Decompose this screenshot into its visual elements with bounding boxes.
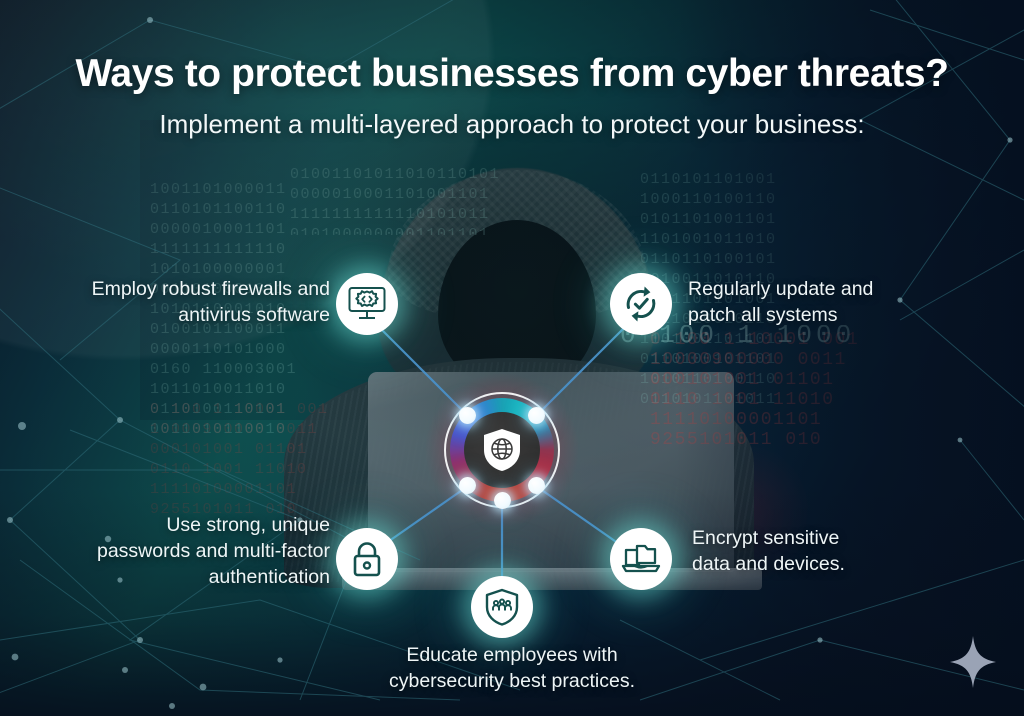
refresh-check-icon: [622, 285, 660, 323]
icon-circle-training[interactable]: [471, 576, 533, 638]
shield-people-icon: [485, 588, 519, 626]
icon-circle-encryption[interactable]: [610, 528, 672, 590]
hub-node-bottom-right: [528, 477, 545, 494]
label-training: Educate employees with cybersecurity bes…: [322, 642, 702, 694]
icon-circle-passwords[interactable]: [336, 528, 398, 590]
icon-circle-updates[interactable]: [610, 273, 672, 335]
hub-node-bottom-left: [459, 477, 476, 494]
label-passwords: Use strong, unique passwords and multi-f…: [40, 512, 330, 590]
label-firewalls: Employ robust firewalls and antivirus so…: [50, 276, 330, 328]
label-updates: Regularly update and patch all systems: [688, 276, 978, 328]
icon-circle-firewalls[interactable]: [336, 273, 398, 335]
padlock-icon: [350, 540, 384, 578]
shield-globe-icon: [482, 428, 522, 472]
sparkle-icon: [950, 636, 996, 688]
hub-node-bottom: [494, 492, 511, 509]
label-encryption: Encrypt sensitive data and devices.: [692, 525, 982, 577]
monitor-gear-code-icon: [347, 285, 387, 323]
hub-node-top-right: [528, 407, 545, 424]
infographic-canvas: 01001101011010110101 0000010001101001101…: [0, 0, 1024, 716]
laptop-folder-icon: [621, 542, 661, 576]
central-hub: [450, 398, 554, 502]
hub-node-top-left: [459, 407, 476, 424]
